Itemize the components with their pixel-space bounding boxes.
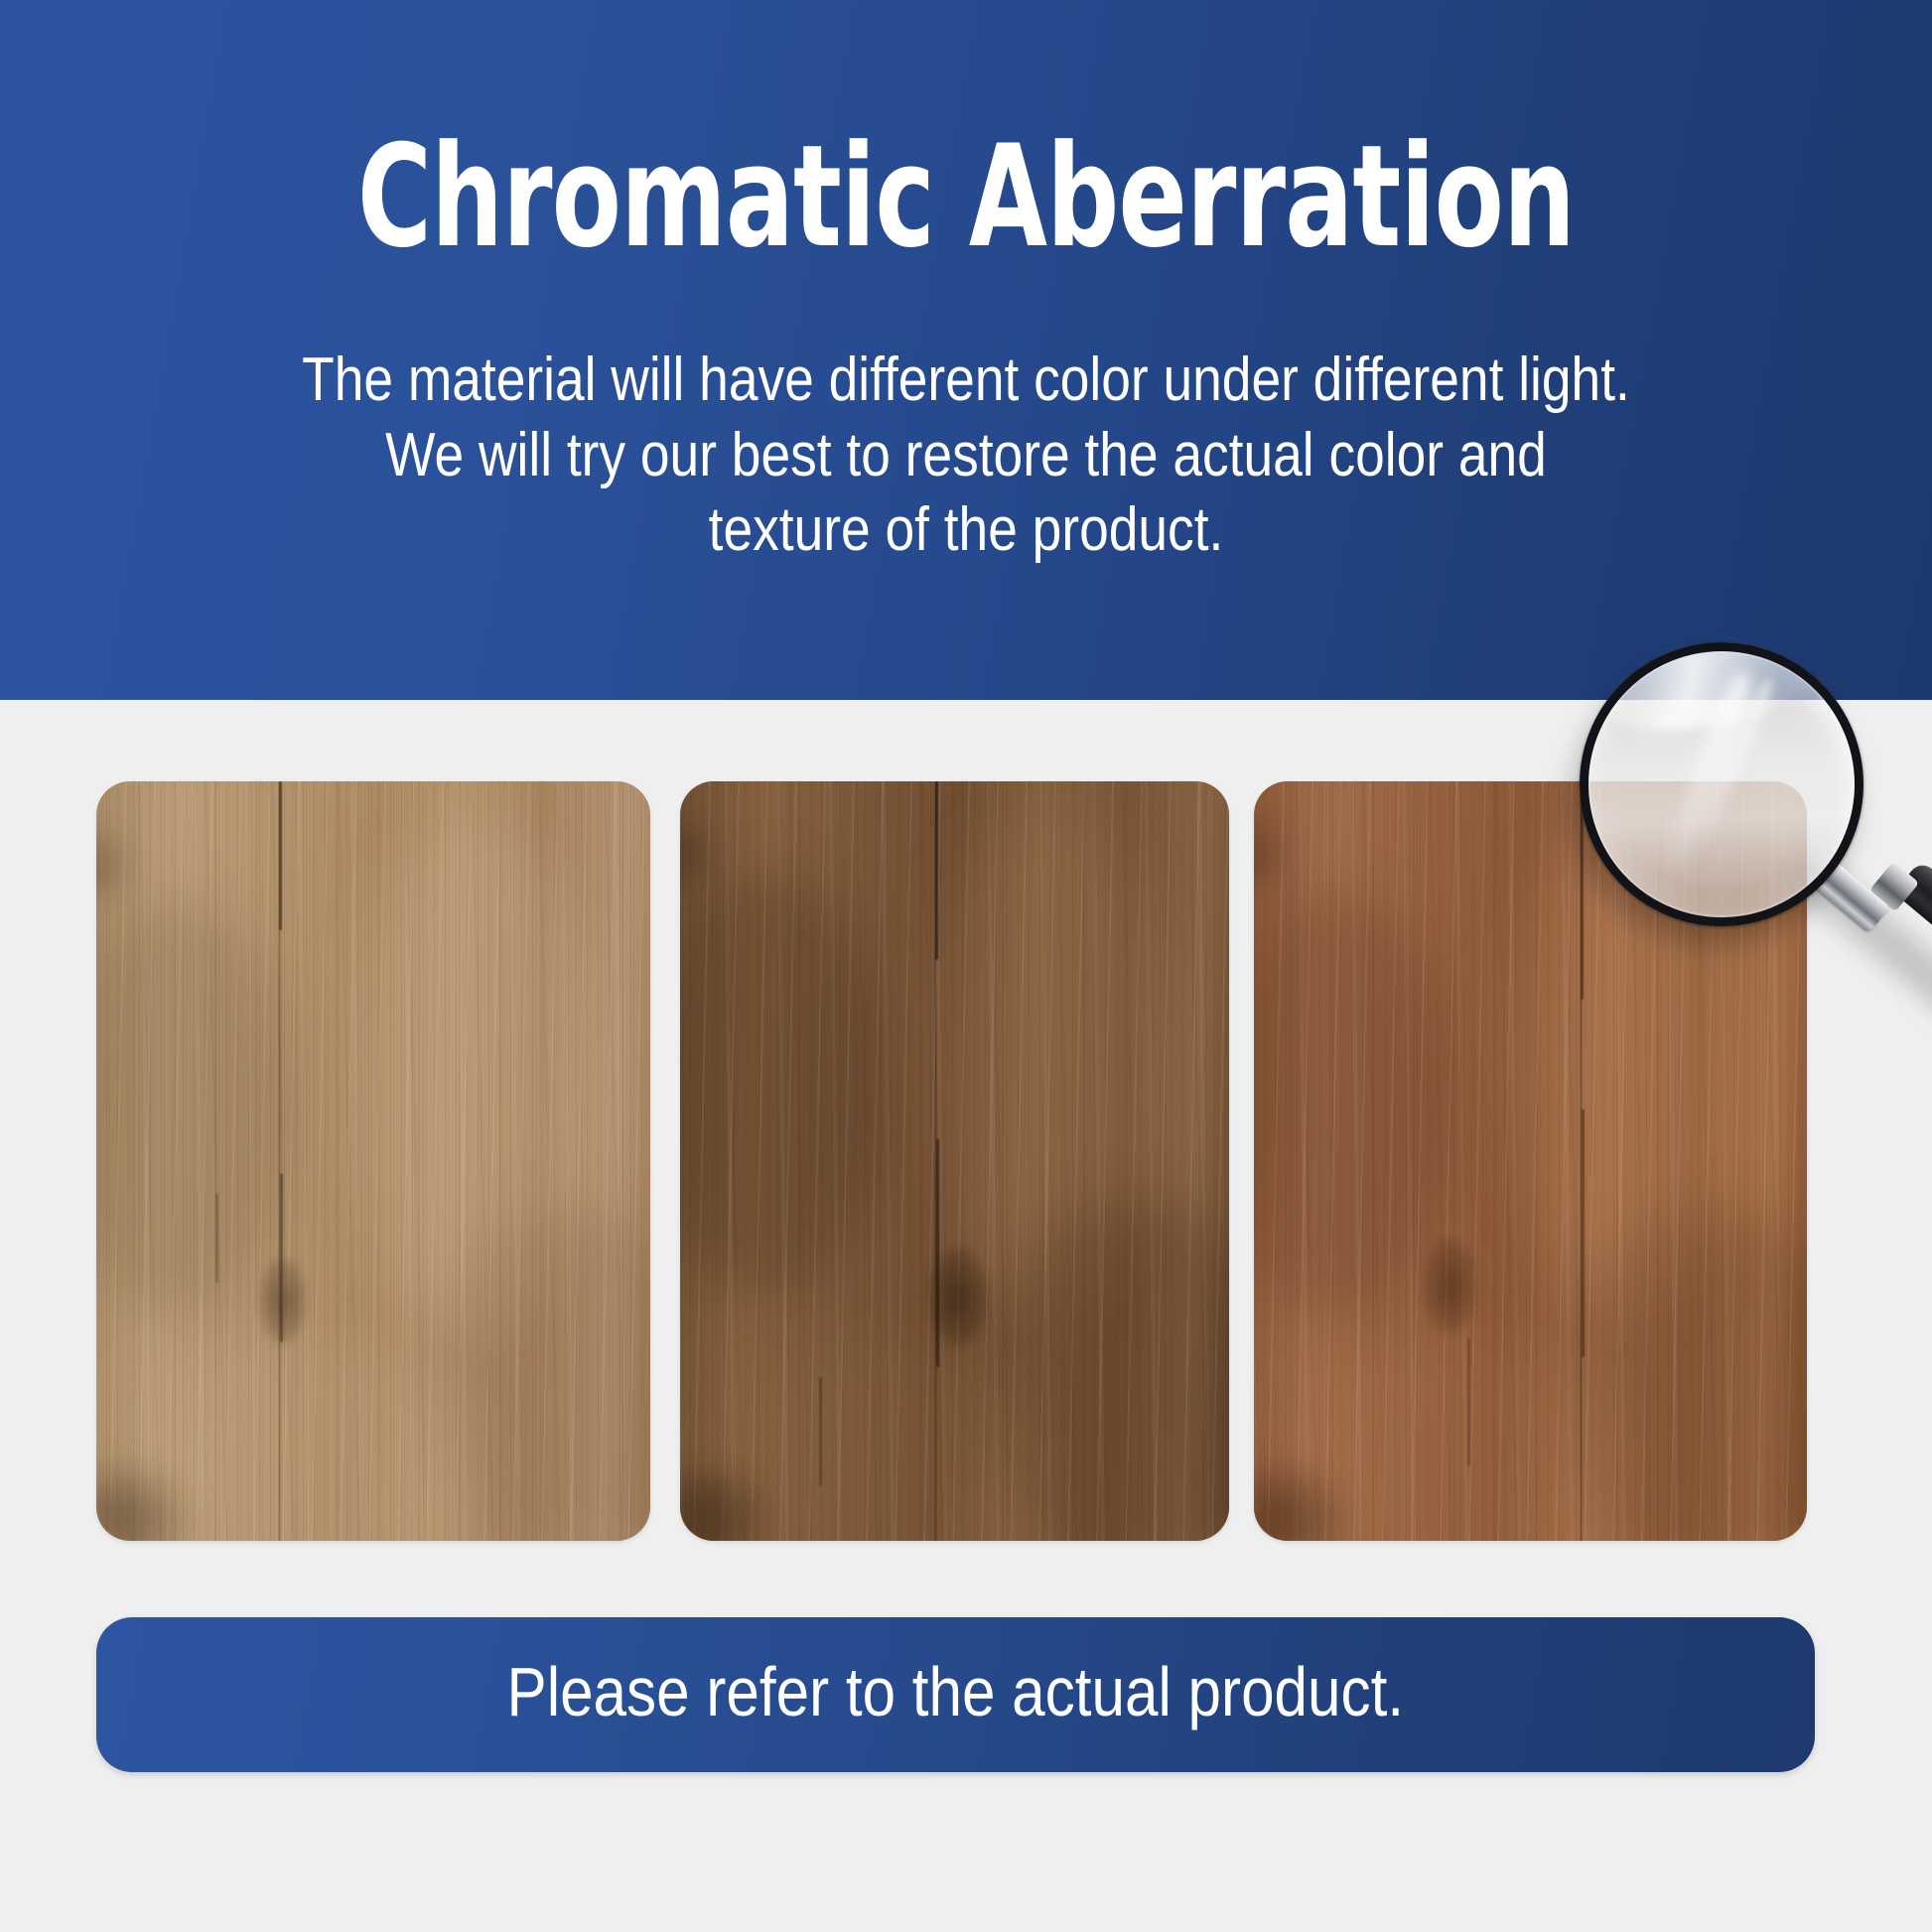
wood-texture-light: [96, 781, 650, 1541]
page-root: Chromatic Aberration The material will h…: [0, 0, 1932, 1932]
magnifying-glass-icon: [1566, 634, 1932, 1051]
header-subtitle: The material will have different color u…: [135, 343, 1797, 568]
cta-label: Please refer to the actual product.: [507, 1657, 1405, 1726]
wood-texture-medium: [680, 781, 1229, 1541]
header-banner: Chromatic Aberration The material will h…: [0, 0, 1932, 700]
subtitle-line-3: texture of the product.: [135, 492, 1797, 568]
swatch-light-oak[interactable]: [96, 781, 650, 1541]
subtitle-line-1: The material will have different color u…: [135, 343, 1797, 418]
swatch-medium-oak[interactable]: [680, 781, 1229, 1541]
page-title: Chromatic Aberration: [194, 127, 1739, 268]
magnifier-rim: [1580, 642, 1863, 926]
subtitle-line-2: We will try our best to restore the actu…: [135, 418, 1797, 493]
refer-to-actual-product-banner[interactable]: Please refer to the actual product.: [96, 1617, 1815, 1772]
